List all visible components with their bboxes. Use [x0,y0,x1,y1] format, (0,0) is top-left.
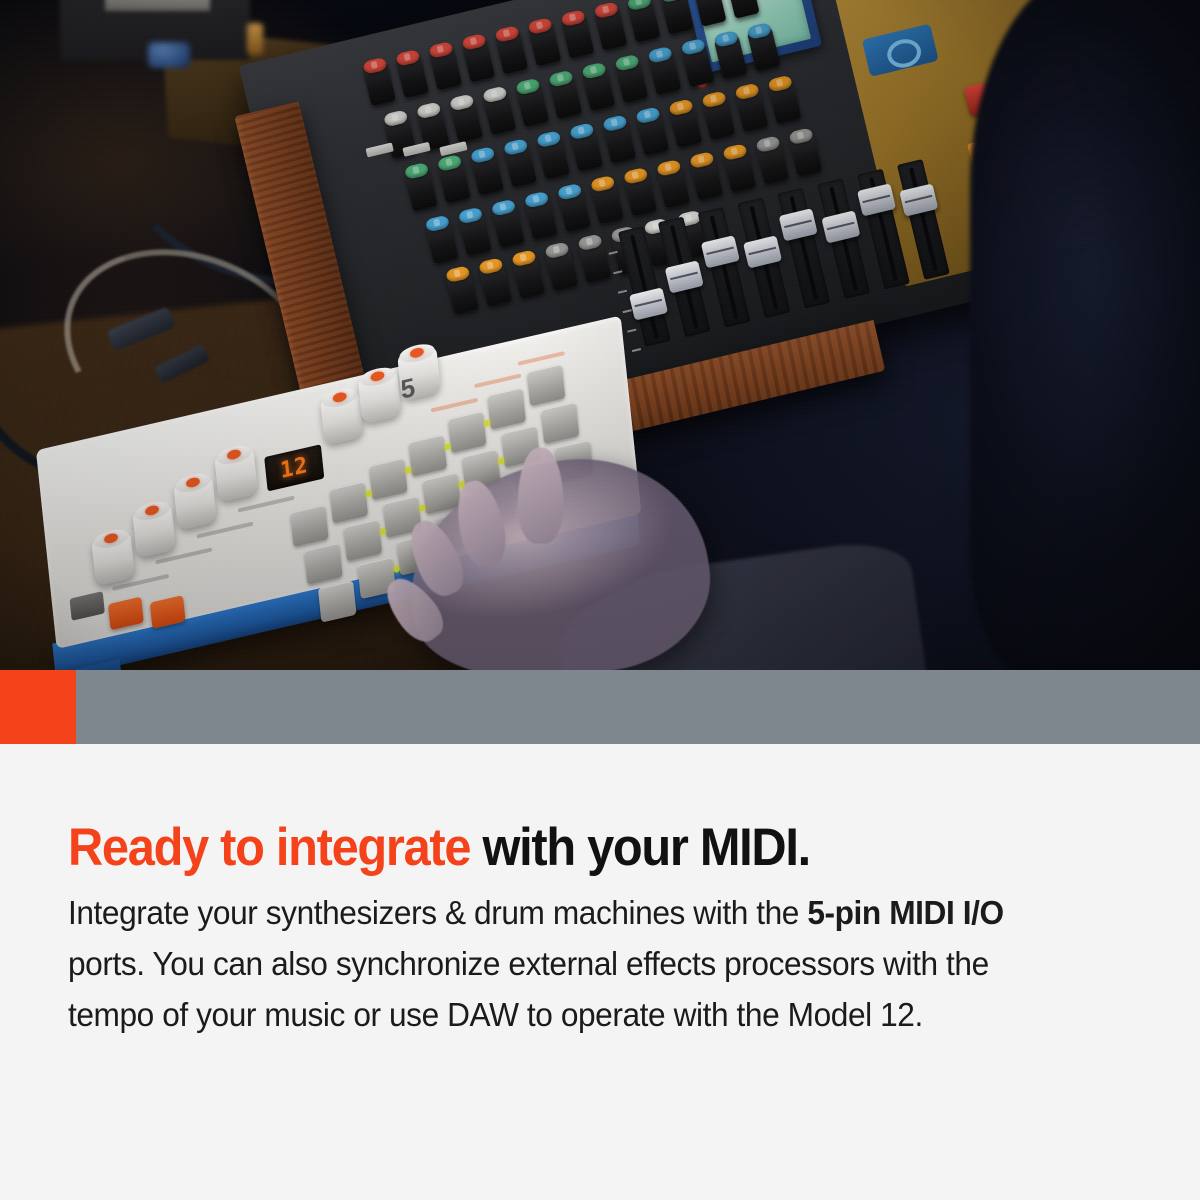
groovebox-knob-5 [320,390,364,445]
band-accent-block [0,670,76,744]
background-figure [970,0,1200,670]
background-device-slot [105,0,210,11]
content-section: Ready to integrate with your MIDI. Integ… [0,744,1200,1200]
groovebox-grey-button [69,591,104,621]
groovebox-knob-4 [214,448,258,503]
product-photo: 12 5 [0,0,1200,670]
headline-rest: with your MIDI. [470,818,810,877]
background-blue-knob [148,42,190,68]
groovebox-orange-button-1 [108,597,144,631]
body-bold-midi: 5-pin MIDI I/O [807,895,1003,932]
headline-accent: Ready to integrate [68,818,470,877]
color-band [0,670,1200,744]
body-part-2: ports. You can also synchronize external… [68,946,989,1034]
groovebox-knob-2 [132,503,176,558]
groovebox-knob-6 [358,369,402,424]
body-paragraph: Integrate your synthesizers & drum machi… [68,889,1046,1042]
body-part-1: Integrate your synthesizers & drum machi… [68,895,807,932]
background-amber-light [247,23,263,55]
page-title: Ready to integrate with your MIDI. [68,820,1047,875]
groovebox-knob-3 [173,475,217,530]
feature-card: 12 5 [0,0,1200,1200]
groovebox-knob-1 [91,531,135,586]
band-neutral-block [76,670,1200,744]
